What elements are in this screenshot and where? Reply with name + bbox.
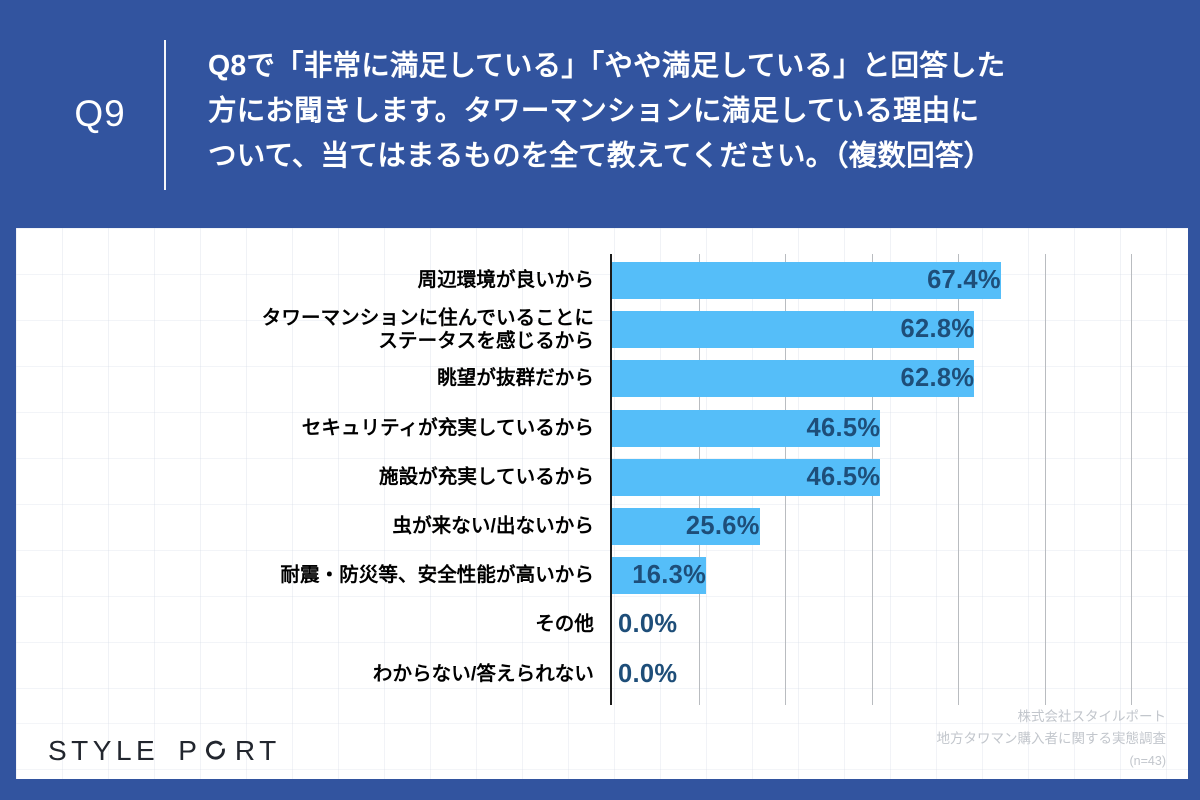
bar-zone: 46.5%	[612, 404, 1172, 453]
source-company: 株式会社スタイルポート	[937, 706, 1167, 728]
bar-category-label: セキュリティが充実しているから	[156, 404, 594, 453]
question-number-label: Q9	[40, 0, 160, 228]
question-line-3: ついて、当てはまるものを全て教えてください。（複数回答）	[208, 134, 1168, 179]
bar-chart-plot: 周辺環境が良いから67.4%タワーマンションに住んでいることに ステータスを感じ…	[16, 228, 1188, 723]
bar-category-label: 周辺環境が良いから	[156, 256, 594, 305]
source-survey: 地方タワマン購入者に関する実態調査	[937, 728, 1167, 750]
bar-row: 虫が来ない/出ないから25.6%	[16, 502, 1188, 551]
bar-row: セキュリティが充実しているから46.5%	[16, 404, 1188, 453]
bar-value-label: 46.5%	[612, 459, 889, 496]
source-sample-size: (n=43)	[937, 750, 1167, 772]
logo-text-style: STYLE	[48, 735, 159, 767]
question-line-2: 方にお聞きします。タワーマンションに満足している理由に	[208, 89, 1168, 134]
bar-row: 周辺環境が良いから67.4%	[16, 256, 1188, 305]
circle-gap-icon	[205, 740, 227, 762]
chart-card: 周辺環境が良いから67.4%タワーマンションに住んでいることに ステータスを感じ…	[16, 228, 1188, 723]
bar-category-label: タワーマンションに住んでいることに ステータスを感じるから	[156, 305, 594, 354]
bar-value-label: 67.4%	[612, 262, 1010, 299]
style-port-logo: STYLE P RT	[48, 723, 281, 779]
bar-value-label: 0.0%	[612, 606, 732, 643]
logo-text-port-post: RT	[235, 735, 281, 767]
source-credit: 株式会社スタイルポート 地方タワマン購入者に関する実態調査 (n=43)	[937, 706, 1167, 772]
bar-category-label: 施設が充実しているから	[156, 453, 594, 502]
bar-category-label: 耐震・防災等、安全性能が高いから	[156, 551, 594, 600]
bar-value-label: 62.8%	[612, 311, 983, 348]
bar-category-label: 虫が来ない/出ないから	[156, 502, 594, 551]
bar-category-label: わからない/答えられない	[156, 650, 594, 699]
infographic-root: Q9 Q8で「非常に満足している」「やや満足している」と回答した 方にお聞きしま…	[0, 0, 1200, 800]
bar-zone: 0.0%	[612, 600, 1172, 649]
logo-text-port-pre: P	[178, 735, 201, 767]
bar-zone: 62.8%	[612, 354, 1172, 403]
bar-zone: 46.5%	[612, 453, 1172, 502]
bar-row: 眺望が抜群だから62.8%	[16, 354, 1188, 403]
question-text: Q8で「非常に満足している」「やや満足している」と回答した 方にお聞きします。タ…	[208, 44, 1168, 179]
bar-value-label: 62.8%	[612, 360, 983, 397]
bar-zone: 67.4%	[612, 256, 1172, 305]
y-axis-line	[610, 254, 612, 705]
bar-row: 耐震・防災等、安全性能が高いから16.3%	[16, 551, 1188, 600]
question-line-1: Q8で「非常に満足している」「やや満足している」と回答した	[208, 44, 1168, 89]
bar-category-label: その他	[156, 600, 594, 649]
bar-zone: 0.0%	[612, 650, 1172, 699]
bar-value-label: 0.0%	[612, 656, 732, 693]
bar-value-label: 25.6%	[612, 508, 769, 545]
bar-row: 施設が充実しているから46.5%	[16, 453, 1188, 502]
bar-row: わからない/答えられない0.0%	[16, 650, 1188, 699]
bar-zone: 25.6%	[612, 502, 1172, 551]
bar-zone: 62.8%	[612, 305, 1172, 354]
bar-category-label: 眺望が抜群だから	[156, 354, 594, 403]
bar-value-label: 46.5%	[612, 410, 889, 447]
bar-value-label: 16.3%	[612, 557, 715, 594]
header-vertical-divider	[164, 40, 166, 190]
bar-row: タワーマンションに住んでいることに ステータスを感じるから62.8%	[16, 305, 1188, 354]
bar-row: その他0.0%	[16, 600, 1188, 649]
header-band: Q9 Q8で「非常に満足している」「やや満足している」と回答した 方にお聞きしま…	[0, 0, 1200, 228]
bar-zone: 16.3%	[612, 551, 1172, 600]
